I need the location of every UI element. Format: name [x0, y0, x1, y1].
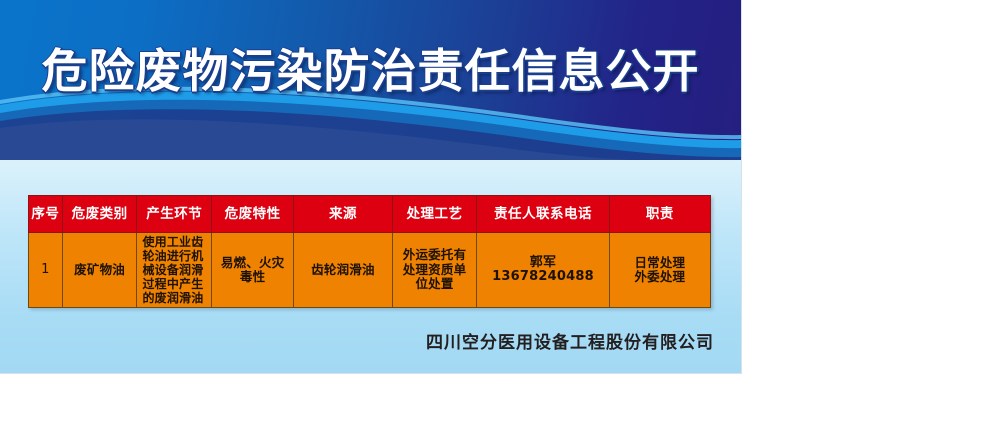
column-header-category: 危废类别	[62, 196, 137, 233]
cell-process-line-3: 位处置	[396, 277, 473, 292]
cell-duty-line-1: 日常处理	[613, 256, 707, 271]
company-name: 四川空分医用设备工程股份有限公司	[0, 328, 714, 353]
information-disclosure-poster: 危险废物污染防治责任信息公开 序号 危废类别 产生环节 危废特性 来源 处理工艺…	[0, 0, 741, 373]
table-header-row: 序号 危废类别 产生环节 危废特性 来源 处理工艺 责任人联系电话 职责	[29, 196, 711, 233]
cell-contact-name: 郭军	[480, 256, 606, 271]
cell-hazard-line-1: 易燃、火灾	[215, 256, 290, 271]
cell-stage: 使用工业齿轮油进行机械设备润滑过程中产生的废润滑油	[137, 233, 212, 308]
cell-process: 外运委托有 处理资质单 位处置	[392, 233, 476, 308]
cell-contact: 郭军 13678240488	[477, 233, 610, 308]
cell-hazard: 易燃、火灾 毒性	[212, 233, 294, 308]
cell-contact-phone: 13678240488	[480, 270, 606, 285]
column-header-contact: 责任人联系电话	[477, 196, 610, 233]
column-header-duty: 职责	[609, 196, 710, 233]
cell-hazard-line-2: 毒性	[215, 270, 290, 285]
hazardous-waste-table: 序号 危废类别 产生环节 危废特性 来源 处理工艺 责任人联系电话 职责 1 废…	[28, 195, 711, 308]
cell-process-line-1: 外运委托有	[396, 248, 473, 263]
page-title: 危险废物污染防治责任信息公开	[0, 43, 741, 99]
column-header-stage: 产生环节	[137, 196, 212, 233]
column-header-process: 处理工艺	[392, 196, 476, 233]
column-header-source: 来源	[294, 196, 393, 233]
cell-duty: 日常处理 外委处理	[609, 233, 710, 308]
title-banner: 危险废物污染防治责任信息公开	[0, 0, 741, 160]
cell-index: 1	[29, 233, 63, 308]
cell-duty-line-2: 外委处理	[613, 270, 707, 285]
column-header-hazard: 危废特性	[212, 196, 294, 233]
column-header-index: 序号	[29, 196, 63, 233]
table-row: 1 废矿物油 使用工业齿轮油进行机械设备润滑过程中产生的废润滑油 易燃、火灾 毒…	[29, 233, 711, 308]
cell-source: 齿轮润滑油	[294, 233, 393, 308]
cell-category: 废矿物油	[62, 233, 137, 308]
cell-process-line-2: 处理资质单	[396, 263, 473, 278]
